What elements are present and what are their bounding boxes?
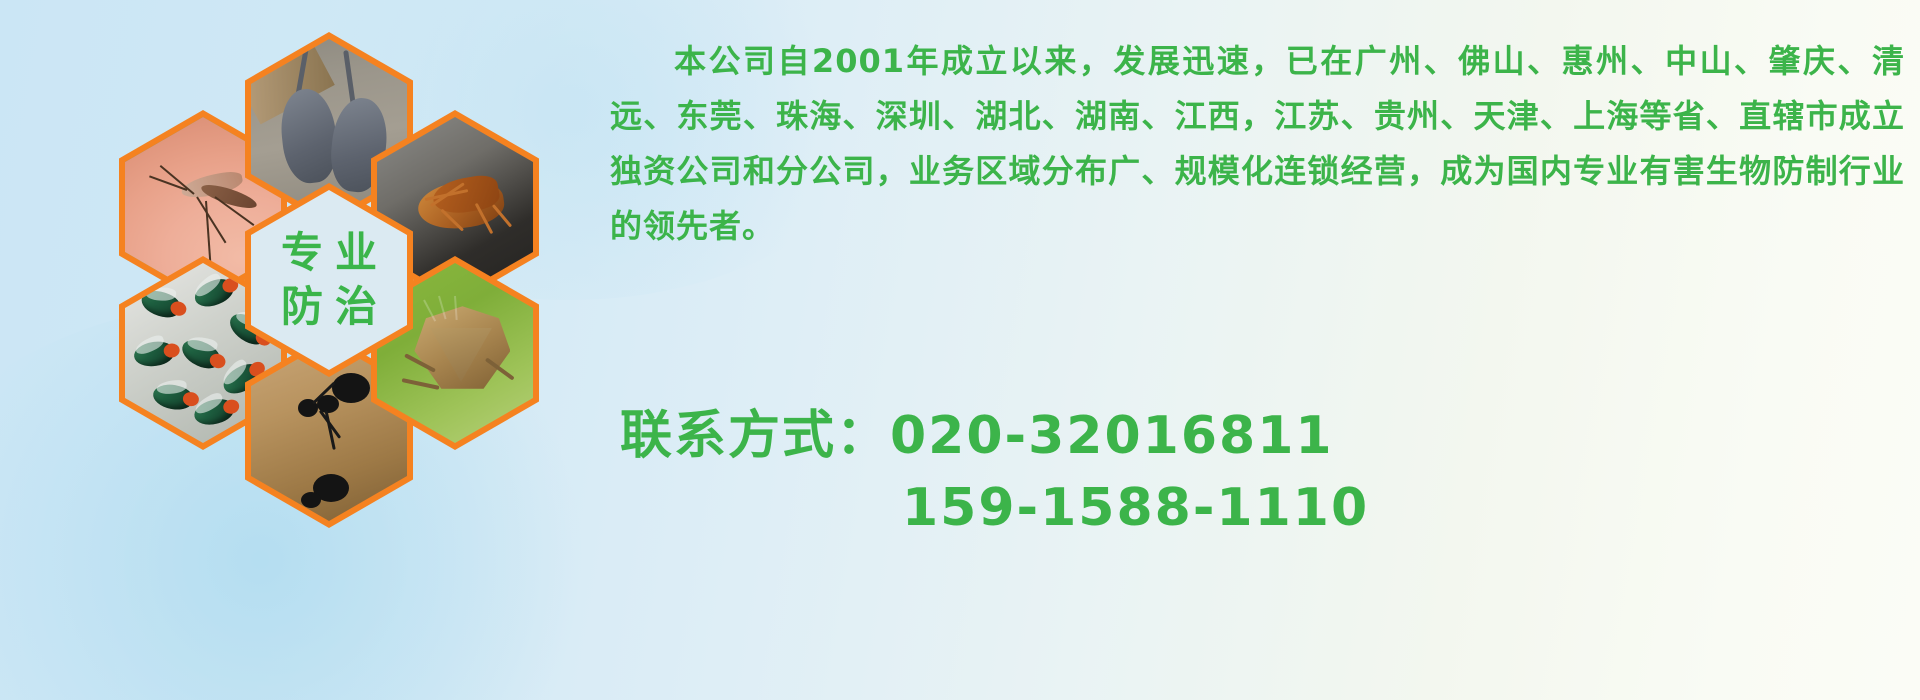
honeycomb-photo-cluster: 专业 防治: [85, 0, 605, 592]
contact-line-primary[interactable]: 联系方式：020-32016811: [620, 400, 1910, 472]
logo-line-1: 专业: [269, 226, 389, 280]
hex-inner-logo: 专业 防治: [251, 190, 407, 370]
content-column: 本公司自2001年成立以来，发展迅速，已在广州、佛山、惠州、中山、肇庆、清远、东…: [610, 0, 1910, 700]
company-description-paragraph: 本公司自2001年成立以来，发展迅速，已在广州、佛山、惠州、中山、肇庆、清远、东…: [610, 34, 1905, 254]
contact-block: 联系方式：020-32016811 159-1588-1110: [620, 400, 1910, 544]
contact-line-secondary[interactable]: 159-1588-1110: [620, 472, 1910, 544]
logo-line-2: 防治: [269, 280, 389, 334]
pest-control-banner: 专业 防治 本公司自2001年成立以来，发展迅速，已在广州、佛山、惠州、中山、肇…: [0, 0, 1920, 700]
